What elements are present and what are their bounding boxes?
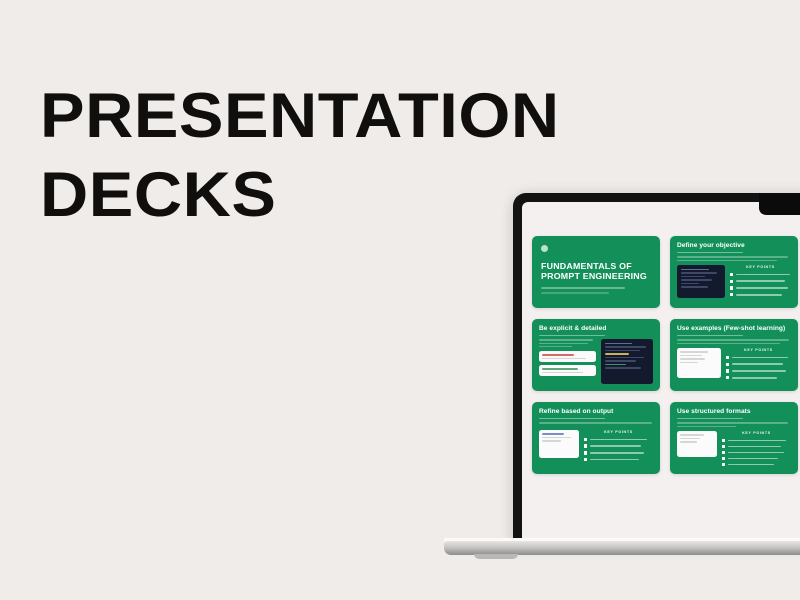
key-points-list: KEY POINTS [584,430,653,465]
bullet-icon [730,280,733,283]
bullet-icon [726,356,729,359]
list-item [730,286,791,289]
slide-title: Be explicit & detailed [539,325,653,332]
slide-title: Define your objective [677,242,791,249]
slide-body-lines [677,339,791,344]
slide-thumbnail[interactable]: Use structured formats [670,402,798,474]
key-points-label: KEY POINTS [730,265,791,269]
laptop-mockup: FUNDAMENTALS OF PROMPT ENGINEERING Defin… [513,193,800,553]
laptop-screen: FUNDAMENTALS OF PROMPT ENGINEERING Defin… [522,202,800,545]
list-item [726,356,791,359]
bullet-icon [722,457,725,460]
list-item [584,458,653,461]
key-points-list: KEY POINTS [726,348,791,383]
preview-card [677,348,721,378]
list-item [726,369,791,372]
bullet-icon [722,463,725,466]
slide-title: FUNDAMENTALS OF PROMPT ENGINEERING [541,261,655,281]
list-item [722,463,791,466]
laptop-base [444,541,800,555]
slide-body-lines [677,422,791,427]
list-item [584,444,653,447]
slide-grid: FUNDAMENTALS OF PROMPT ENGINEERING Defin… [532,236,800,474]
code-snippet-block [601,339,653,384]
preview-card [539,351,596,362]
bullet-icon [726,369,729,372]
bullet-icon [722,445,725,448]
key-points-label: KEY POINTS [584,430,653,434]
list-item [730,293,791,296]
key-points-label: KEY POINTS [726,348,791,352]
slide-body-lines [677,256,791,261]
slide-thumbnail[interactable]: Use examples (Few-shot learning) [670,319,798,391]
slide-subtitle-bar-secondary [541,292,609,294]
bullet-icon [722,451,725,454]
bullet-icon [584,458,587,461]
list-item [730,280,791,283]
list-item [722,445,791,448]
bullet-icon [730,293,733,296]
bullet-icon [726,376,729,379]
bullet-icon [730,273,733,276]
list-item [584,438,653,441]
slide-kicker-bar [677,418,743,420]
key-points-list: KEY POINTS [722,431,791,469]
slide-body-lines [539,422,653,424]
laptop-lid: FUNDAMENTALS OF PROMPT ENGINEERING Defin… [513,193,800,545]
list-item [584,451,653,454]
list-item [722,451,791,454]
slide-title: Use structured formats [677,408,791,415]
slide-thumbnail[interactable]: FUNDAMENTALS OF PROMPT ENGINEERING [532,236,660,308]
list-item [726,376,791,379]
list-item [726,363,791,366]
preview-card [677,431,717,457]
bullet-icon [584,444,587,447]
page-title: PRESENTATION DECKS [40,86,560,226]
page-title-line-2: DECKS [40,165,591,226]
key-points-label: KEY POINTS [722,431,791,435]
list-item [722,457,791,460]
preview-card [539,365,596,376]
screen-notch [759,193,800,215]
slide-kicker-bar [677,252,743,254]
slide-kicker-bar [539,418,605,420]
slide-title: Refine based on output [539,408,653,415]
list-item [722,439,791,442]
list-item [730,273,791,276]
slide-title: Use examples (Few-shot learning) [677,325,791,332]
deck-gallery[interactable]: FUNDAMENTALS OF PROMPT ENGINEERING Defin… [522,202,800,545]
bullet-icon [584,451,587,454]
slide-subtitle-bar [541,287,625,289]
slide-thumbnail[interactable]: Refine based on output [532,402,660,474]
circle-badge-icon [541,245,548,252]
code-snippet-block [677,265,725,298]
key-points-list: KEY POINTS [730,265,791,300]
slide-thumbnail[interactable]: Be explicit & detailed [532,319,660,391]
slide-thumbnail[interactable]: Define your objective [670,236,798,308]
bullet-icon [726,363,729,366]
slide-kicker-bar [539,335,605,337]
preview-card [539,430,579,458]
bullet-icon [722,439,725,442]
bullet-icon [730,286,733,289]
slide-kicker-bar [677,335,743,337]
bullet-icon [584,438,587,441]
page-title-line-1: PRESENTATION [40,86,591,147]
